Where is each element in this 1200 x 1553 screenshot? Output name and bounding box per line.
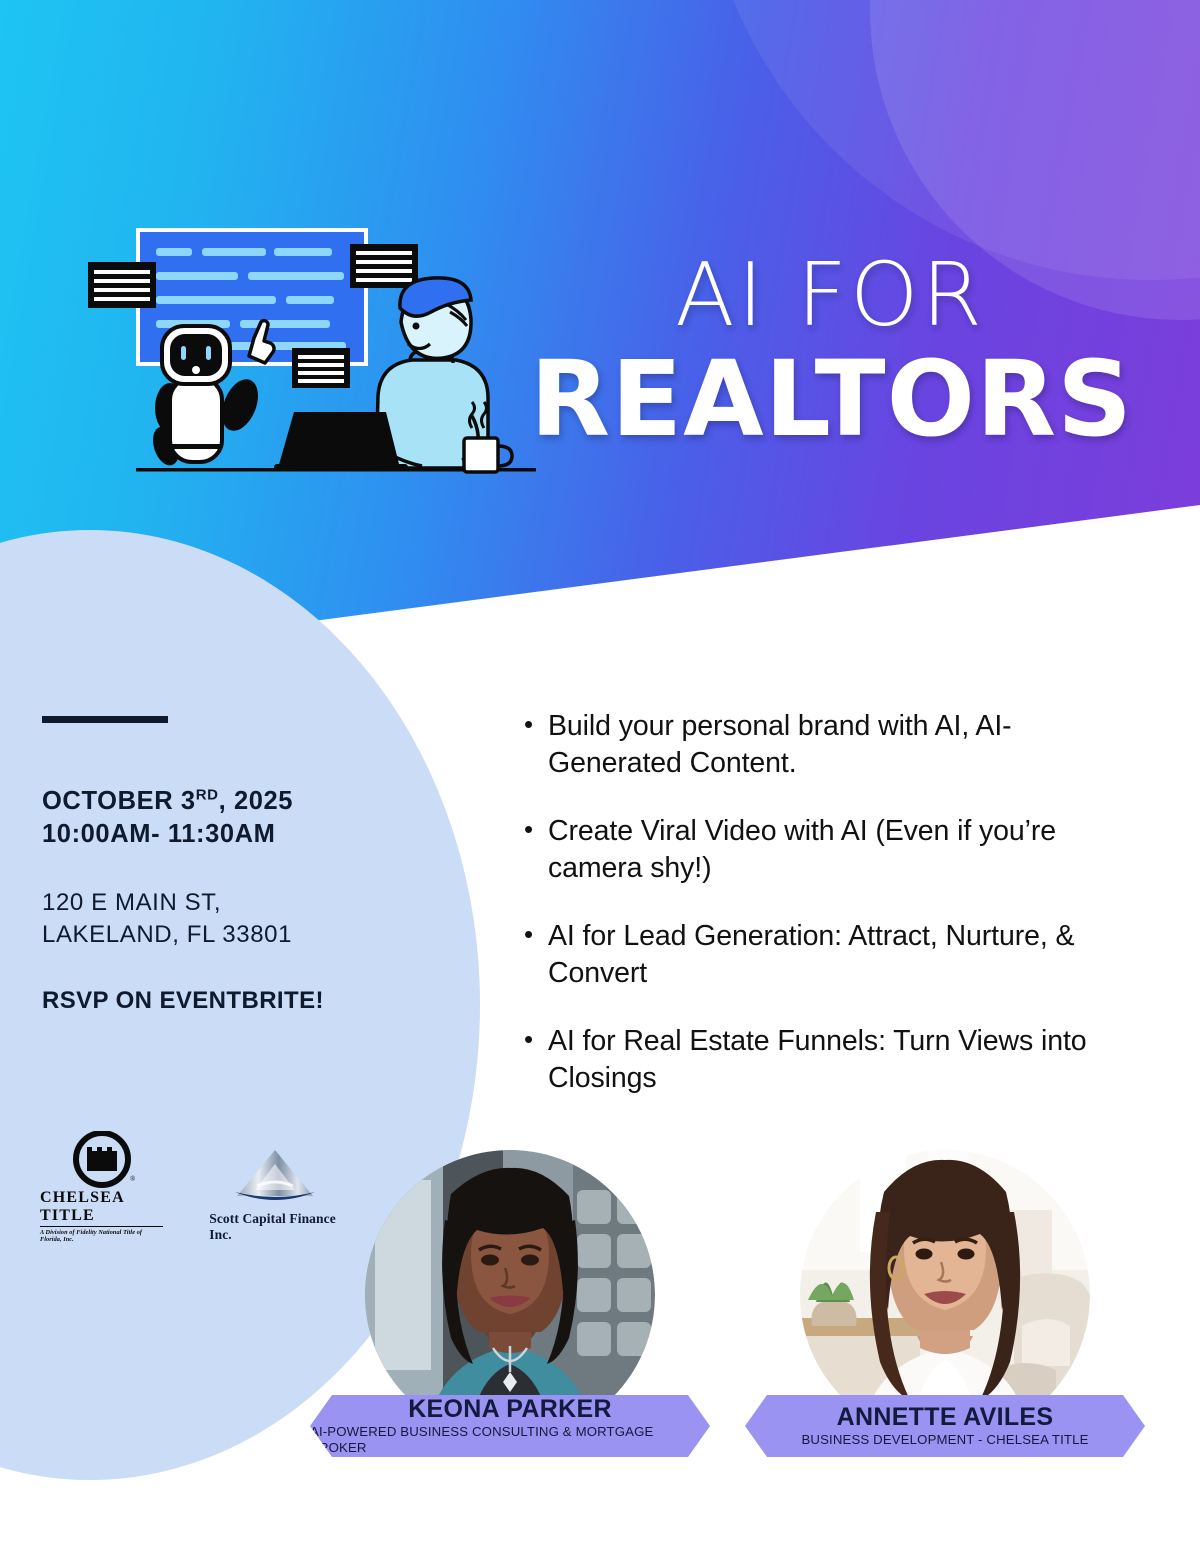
speaker-name-banner: ANNETTE AVILES BUSINESS DEVELOPMENT - CH…	[745, 1395, 1145, 1457]
page-title: AI FOR REALTORS	[530, 252, 1130, 454]
speaker-name: ANNETTE AVILES	[837, 1404, 1054, 1431]
event-address: 120 E MAIN ST, LAKELAND, FL 33801	[42, 887, 422, 951]
bullet-dot-icon: •	[520, 918, 548, 992]
speaker-card-keona-parker: KEONA PARKER AI-POWERED BUSINESS CONSULT…	[365, 1150, 655, 1440]
speaker-name: KEONA PARKER	[408, 1396, 612, 1423]
ai-presentation-illustration	[78, 200, 548, 530]
list-item: • Build your personal brand with AI, AI-…	[520, 708, 1120, 782]
title-line-1: AI FOR	[530, 252, 1130, 339]
session-topics-list: • Build your personal brand with AI, AI-…	[520, 708, 1120, 1128]
speaker-name-banner: KEONA PARKER AI-POWERED BUSINESS CONSULT…	[310, 1395, 710, 1457]
list-item: • Create Viral Video with AI (Even if yo…	[520, 813, 1120, 887]
event-date: OCTOBER 3	[42, 787, 196, 815]
list-item: • AI for Lead Generation: Attract, Nurtu…	[520, 918, 1120, 992]
event-year: , 2025	[219, 787, 294, 815]
list-item-label: Build your personal brand with AI, AI-Ge…	[548, 708, 1120, 782]
bullet-dot-icon: •	[520, 813, 548, 887]
list-item-label: AI for Lead Generation: Attract, Nurture…	[548, 918, 1120, 992]
speaker-role: BUSINESS DEVELOPMENT - CHELSEA TITLE	[801, 1432, 1088, 1448]
event-date-time: OCTOBER 3RD, 2025 10:00AM- 11:30AM	[42, 785, 422, 851]
bullet-dot-icon: •	[520, 708, 548, 782]
address-line-1: 120 E MAIN ST,	[42, 889, 221, 916]
speaker-role: AI-POWERED BUSINESS CONSULTING & MORTGAG…	[310, 1424, 710, 1456]
rsvp-call-to-action: RSVP ON EVENTBRITE!	[42, 987, 422, 1015]
bullet-dot-icon: •	[520, 1023, 548, 1097]
speakers-section: KEONA PARKER AI-POWERED BUSINESS CONSULT…	[0, 1150, 1200, 1553]
list-item-label: AI for Real Estate Funnels: Turn Views i…	[548, 1023, 1120, 1097]
callout-box-right-icon	[350, 244, 418, 288]
callout-box-left-icon	[88, 262, 156, 308]
decorative-circle-icon	[700, 0, 1200, 280]
event-time: 10:00AM- 11:30AM	[42, 820, 276, 848]
list-item-label: Create Viral Video with AI (Even if you’…	[548, 813, 1120, 887]
callout-box-center-icon	[292, 348, 350, 388]
event-details-block: OCTOBER 3RD, 2025 10:00AM- 11:30AM 120 E…	[42, 716, 422, 1015]
robot-icon	[148, 321, 274, 469]
date-ordinal: RD	[196, 787, 219, 804]
speaker-card-annette-aviles: ANNETTE AVILES BUSINESS DEVELOPMENT - CH…	[800, 1150, 1090, 1440]
title-line-2: REALTORS	[530, 345, 1130, 454]
list-item: • AI for Real Estate Funnels: Turn Views…	[520, 1023, 1120, 1097]
divider-rule	[42, 716, 168, 723]
address-line-2: LAKELAND, FL 33801	[42, 921, 292, 948]
